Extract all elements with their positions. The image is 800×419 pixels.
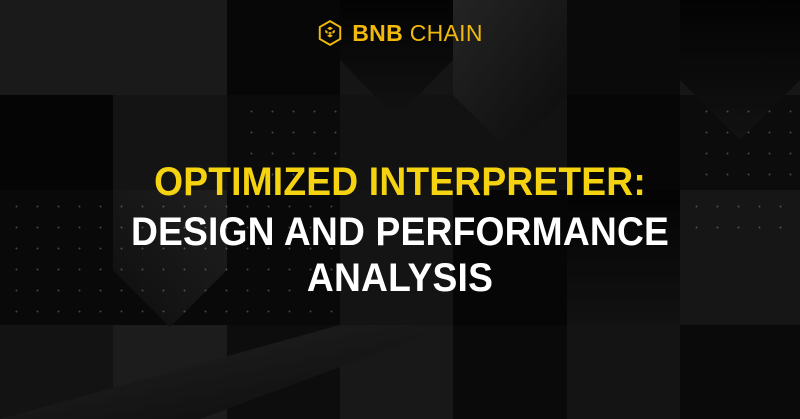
- chevron-top-left: [340, 0, 453, 118]
- background-block: [113, 325, 227, 419]
- diagonal-bottom-left: [0, 325, 453, 419]
- bnb-chain-title-banner: BNB CHAIN OPTIMIZED INTERPRETER: DESIGN …: [0, 0, 800, 419]
- logo-text-chain: CHAIN: [410, 20, 483, 46]
- plus-grid-pattern: [685, 325, 800, 419]
- title-line-2: DESIGN AND PERFORMANCE: [28, 212, 772, 252]
- logo-text-bnb: BNB: [352, 20, 403, 46]
- background-block: [567, 0, 680, 95]
- background-block: [0, 0, 227, 95]
- bnb-chain-logo: BNB CHAIN: [0, 20, 800, 46]
- background-block: [340, 0, 453, 95]
- bnb-chain-wordmark: BNB CHAIN: [352, 22, 483, 45]
- background-block: [567, 325, 680, 419]
- background-block: [227, 325, 340, 419]
- background-block: [680, 325, 800, 419]
- bnb-chain-hexagon-logo-icon: [317, 20, 343, 46]
- title-line-1: OPTIMIZED INTERPRETER:: [28, 162, 772, 202]
- background-block: [227, 0, 340, 95]
- title-line-3: ANALYSIS: [28, 258, 772, 298]
- background-block: [0, 325, 113, 419]
- background-block: [680, 0, 800, 95]
- title-block: OPTIMIZED INTERPRETER: DESIGN AND PERFOR…: [0, 162, 800, 298]
- background-block: [340, 325, 453, 419]
- background-block: [453, 0, 567, 95]
- background-block: [453, 325, 567, 419]
